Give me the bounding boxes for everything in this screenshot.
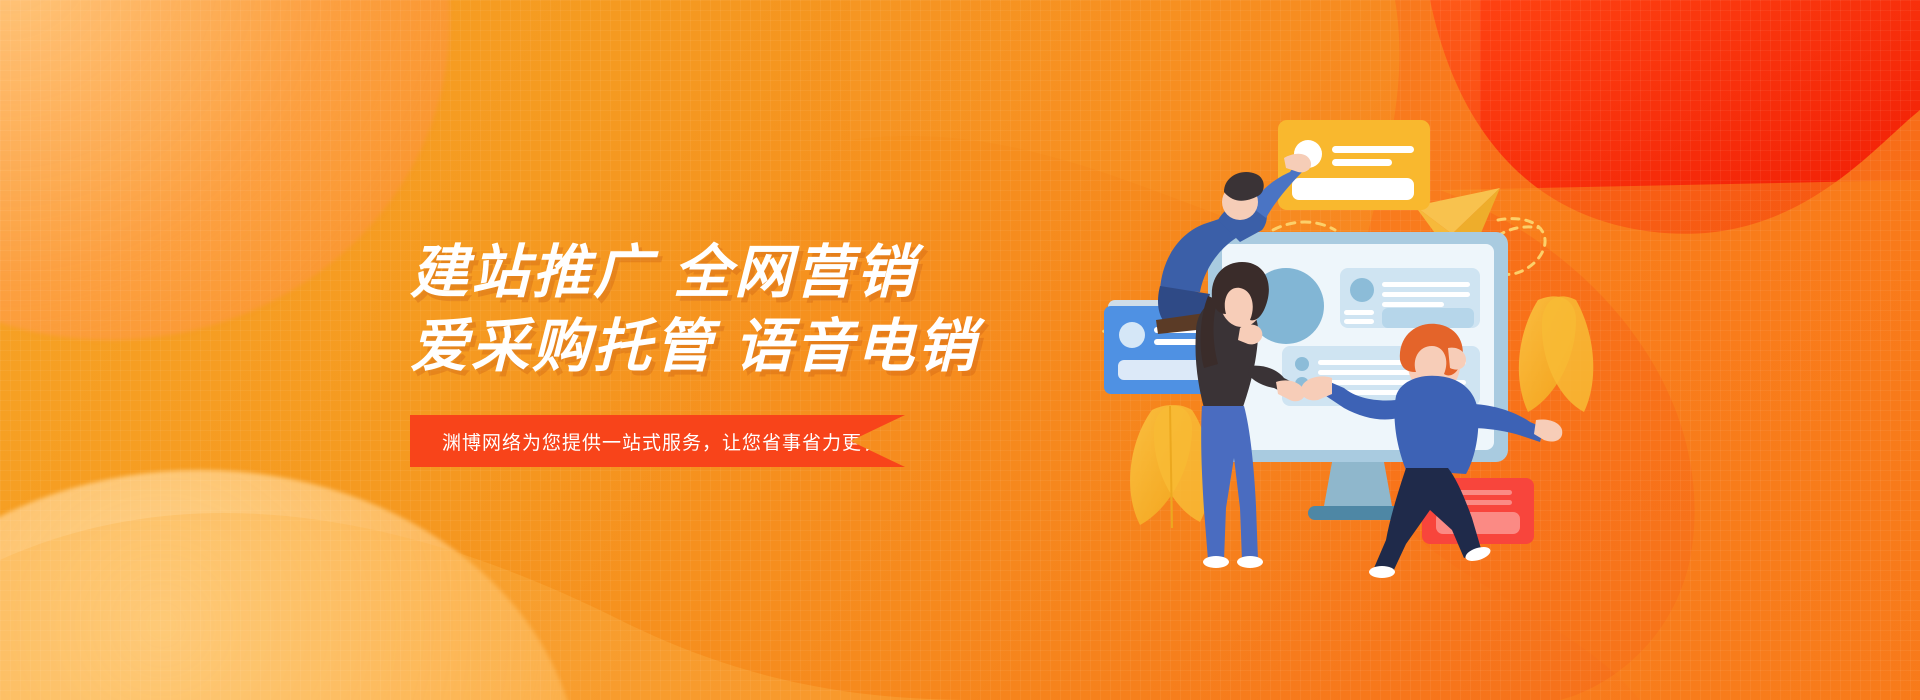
illustration-svg xyxy=(1100,110,1600,580)
tagline-text: 渊博网络为您提供一站式服务，让您省事省力更省心 xyxy=(410,428,902,455)
hero-illustration xyxy=(1100,110,1600,580)
headline-line-1: 建站推广 全网营销 xyxy=(410,236,1050,310)
tagline-ribbon: 渊博网络为您提供一站式服务，让您省事省力更省心 xyxy=(410,415,905,467)
promo-banner: 建站推广 全网营销 爱采购托管 语音电销 渊博网络为您提供一站式服务，让您省事省… xyxy=(0,0,1920,700)
headline-block: 建站推广 全网营销 爱采购托管 语音电销 xyxy=(410,236,1050,384)
headline-line-2: 爱采购托管 语音电销 xyxy=(410,310,1050,384)
wave-lower-left xyxy=(0,513,980,700)
